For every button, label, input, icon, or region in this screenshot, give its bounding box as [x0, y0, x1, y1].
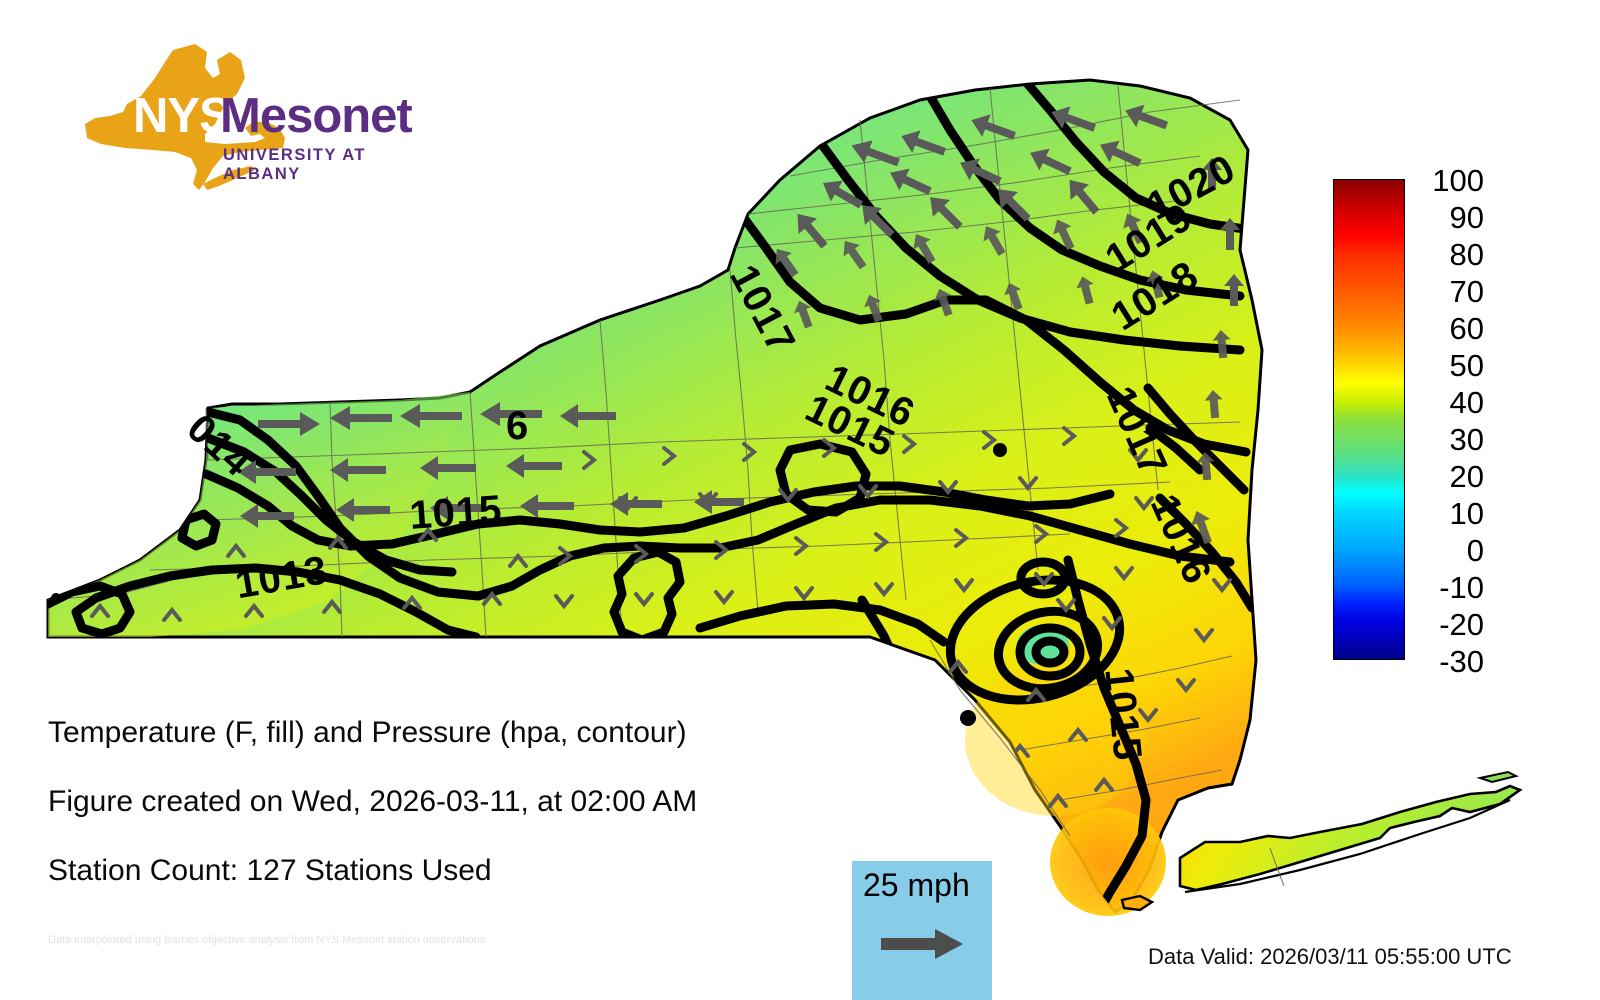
data-valid-timestamp: Data Valid: 2026/03/11 05:55:00 UTC	[1148, 944, 1512, 970]
colorbar-tick: 40	[1412, 387, 1484, 418]
colorbar-tick: 100	[1412, 165, 1484, 196]
long-island-polygon	[1180, 786, 1520, 890]
colorbar-tick: 70	[1412, 276, 1484, 307]
block-island-shape	[1480, 772, 1516, 782]
colorbar-tick: 90	[1412, 202, 1484, 233]
colorbar-tick: -30	[1412, 646, 1484, 677]
caption-created-time: Figure created on Wed, 2026-03-11, at 02…	[48, 787, 878, 817]
colorbar-tick: 60	[1412, 313, 1484, 344]
colorbar-tick: 0	[1412, 535, 1484, 566]
wind-speed-legend[interactable]: 25 mph	[852, 861, 992, 1000]
caption-title: Temperature (F, fill) and Pressure (hpa,…	[48, 718, 878, 748]
colorbar-tick: -10	[1412, 572, 1484, 603]
caption-station-count: Station Count: 127 Stations Used	[48, 856, 878, 886]
colorbar-tick: -20	[1412, 609, 1484, 640]
colorbar-tick: 20	[1412, 461, 1484, 492]
colorbar-tick: 80	[1412, 239, 1484, 270]
contour-label: 6	[506, 404, 529, 449]
station-marker	[960, 710, 976, 726]
contour-label: 1015	[408, 488, 504, 539]
contour-label: 1015	[1095, 666, 1149, 763]
colorbar-tick: 10	[1412, 498, 1484, 529]
caption-method-note: Data interpolated using Barnes objective…	[48, 925, 878, 955]
temperature-colorbar[interactable]	[1333, 179, 1405, 660]
wind-legend-label: 25 mph	[863, 867, 970, 903]
station-marker	[993, 443, 1007, 457]
colorbar-tick-labels: 100 90 80 70 60 50 40 30 20 10 0 -10 -20…	[1412, 165, 1512, 680]
colorbar-tick: 50	[1412, 350, 1484, 381]
station-marker	[51, 593, 61, 603]
right-arrow-icon	[881, 927, 965, 961]
colorbar-tick: 30	[1412, 424, 1484, 455]
caption-block: Temperature (F, fill) and Pressure (hpa,…	[48, 718, 878, 955]
